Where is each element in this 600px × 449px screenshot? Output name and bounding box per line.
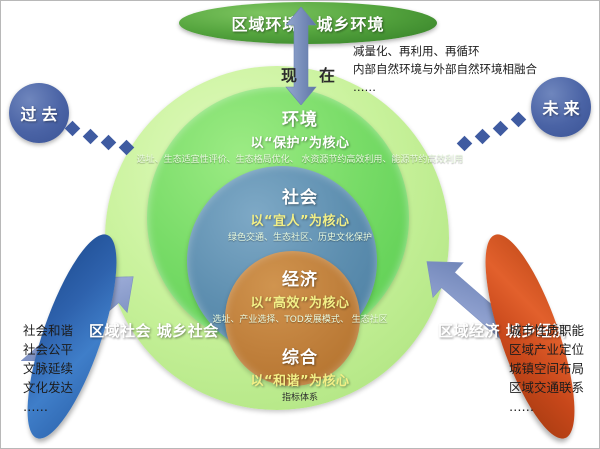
vertical-double-arrow: [284, 7, 318, 109]
environment-detail: 选址、生态适宜性评价、生态格局优化、 水资源节约高效利用、能源节约高效利用: [1, 154, 599, 167]
label-society: 社会 以“宜人”为核心 绿色交通、生态社区、历史文化保护: [1, 183, 599, 245]
future-label: 未来: [531, 95, 591, 119]
past-circle: 过去: [9, 83, 69, 143]
past-label: 过去: [9, 101, 69, 125]
society-title: 社会: [1, 183, 599, 208]
society-notes: 社会和谐 社会公平 文脉延续 文化发达 ……: [23, 321, 73, 416]
present-label: 现在: [259, 66, 354, 86]
environment-notes: 减量化、再利用、再循环 内部自然环境与外部自然环境相融合 ……: [353, 43, 537, 96]
future-circle: 未来: [531, 77, 591, 137]
economy-notes: 城市性质职能 区域产业定位 城镇空间布局 区域交通联系 ……: [509, 321, 584, 416]
diagram-canvas: 环境 以“保护”为核心 选址、生态适宜性评价、生态格局优化、 水资源节约高效利用…: [0, 0, 600, 449]
left-ellipse-label: 区域社会 城乡社会: [89, 321, 219, 341]
society-core: 以“宜人”为核心: [1, 210, 599, 229]
